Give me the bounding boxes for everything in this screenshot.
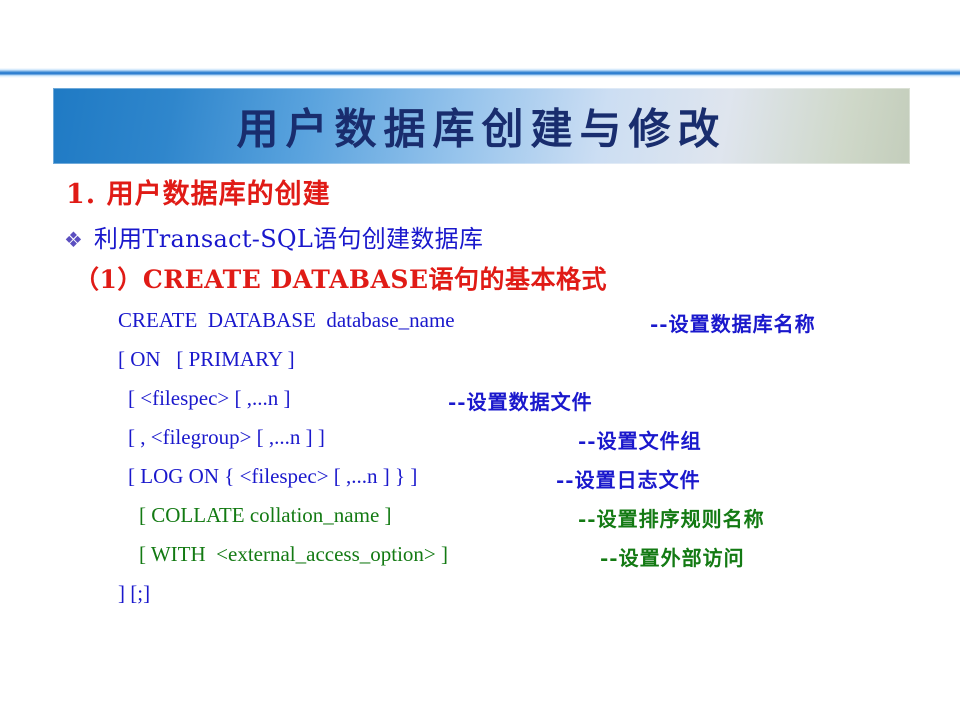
code-line: [ ON [ PRIMARY ] xyxy=(0,347,960,386)
diamond-bullet-icon: ❖ xyxy=(64,230,83,251)
code-line-comment: --设置日志文件 xyxy=(556,464,701,493)
code-line: [ LOG ON { <filespec> [ ,...n ] } ]--设置日… xyxy=(0,464,960,503)
code-line-text: [ , <filegroup> [ ,...n ] ] xyxy=(128,425,325,450)
page-title: 用户数据库创建与修改 xyxy=(53,96,910,157)
code-line-comment: --设置数据库名称 xyxy=(650,308,816,337)
code-line-comment: --设置文件组 xyxy=(578,425,702,454)
bullet-item: ❖ 利用Transact-SQL语句创建数据库 xyxy=(64,219,483,254)
heading-level-1: 1. 用户数据库的创建 xyxy=(66,172,331,211)
code-line-text: CREATE DATABASE database_name xyxy=(118,308,455,333)
code-line: [ , <filegroup> [ ,...n ] ]--设置文件组 xyxy=(0,425,960,464)
heading-level-3: （1）CREATE DATABASE语句的基本格式 xyxy=(74,260,607,296)
slide-canvas: 用户数据库创建与修改 1. 用户数据库的创建 ❖ 利用Transact-SQL语… xyxy=(0,0,960,720)
code-line-text: [ COLLATE collation_name ] xyxy=(139,503,392,528)
code-line-text: [ WITH <external_access_option> ] xyxy=(139,542,448,567)
code-line-text: ] [;] xyxy=(118,581,150,606)
top-decorative-rule xyxy=(0,68,960,78)
code-line-comment: --设置数据文件 xyxy=(448,386,593,415)
code-line: [ COLLATE collation_name ]--设置排序规则名称 xyxy=(0,503,960,542)
code-line-text: [ LOG ON { <filespec> [ ,...n ] } ] xyxy=(128,464,417,489)
title-banner: 用户数据库创建与修改 xyxy=(53,88,910,164)
code-line: CREATE DATABASE database_name--设置数据库名称 xyxy=(0,308,960,347)
code-block: CREATE DATABASE database_name--设置数据库名称[ … xyxy=(0,308,960,620)
code-line-text: [ <filespec> [ ,...n ] xyxy=(128,386,290,411)
code-line: [ <filespec> [ ,...n ]--设置数据文件 xyxy=(0,386,960,425)
bullet-item-label: 利用Transact-SQL语句创建数据库 xyxy=(94,219,483,254)
code-line-comment: --设置外部访问 xyxy=(600,542,745,571)
code-line: [ WITH <external_access_option> ]--设置外部访… xyxy=(0,542,960,581)
code-line-text: [ ON [ PRIMARY ] xyxy=(118,347,295,372)
code-line-comment: --设置排序规则名称 xyxy=(578,503,765,532)
code-line: ] [;] xyxy=(0,581,960,620)
